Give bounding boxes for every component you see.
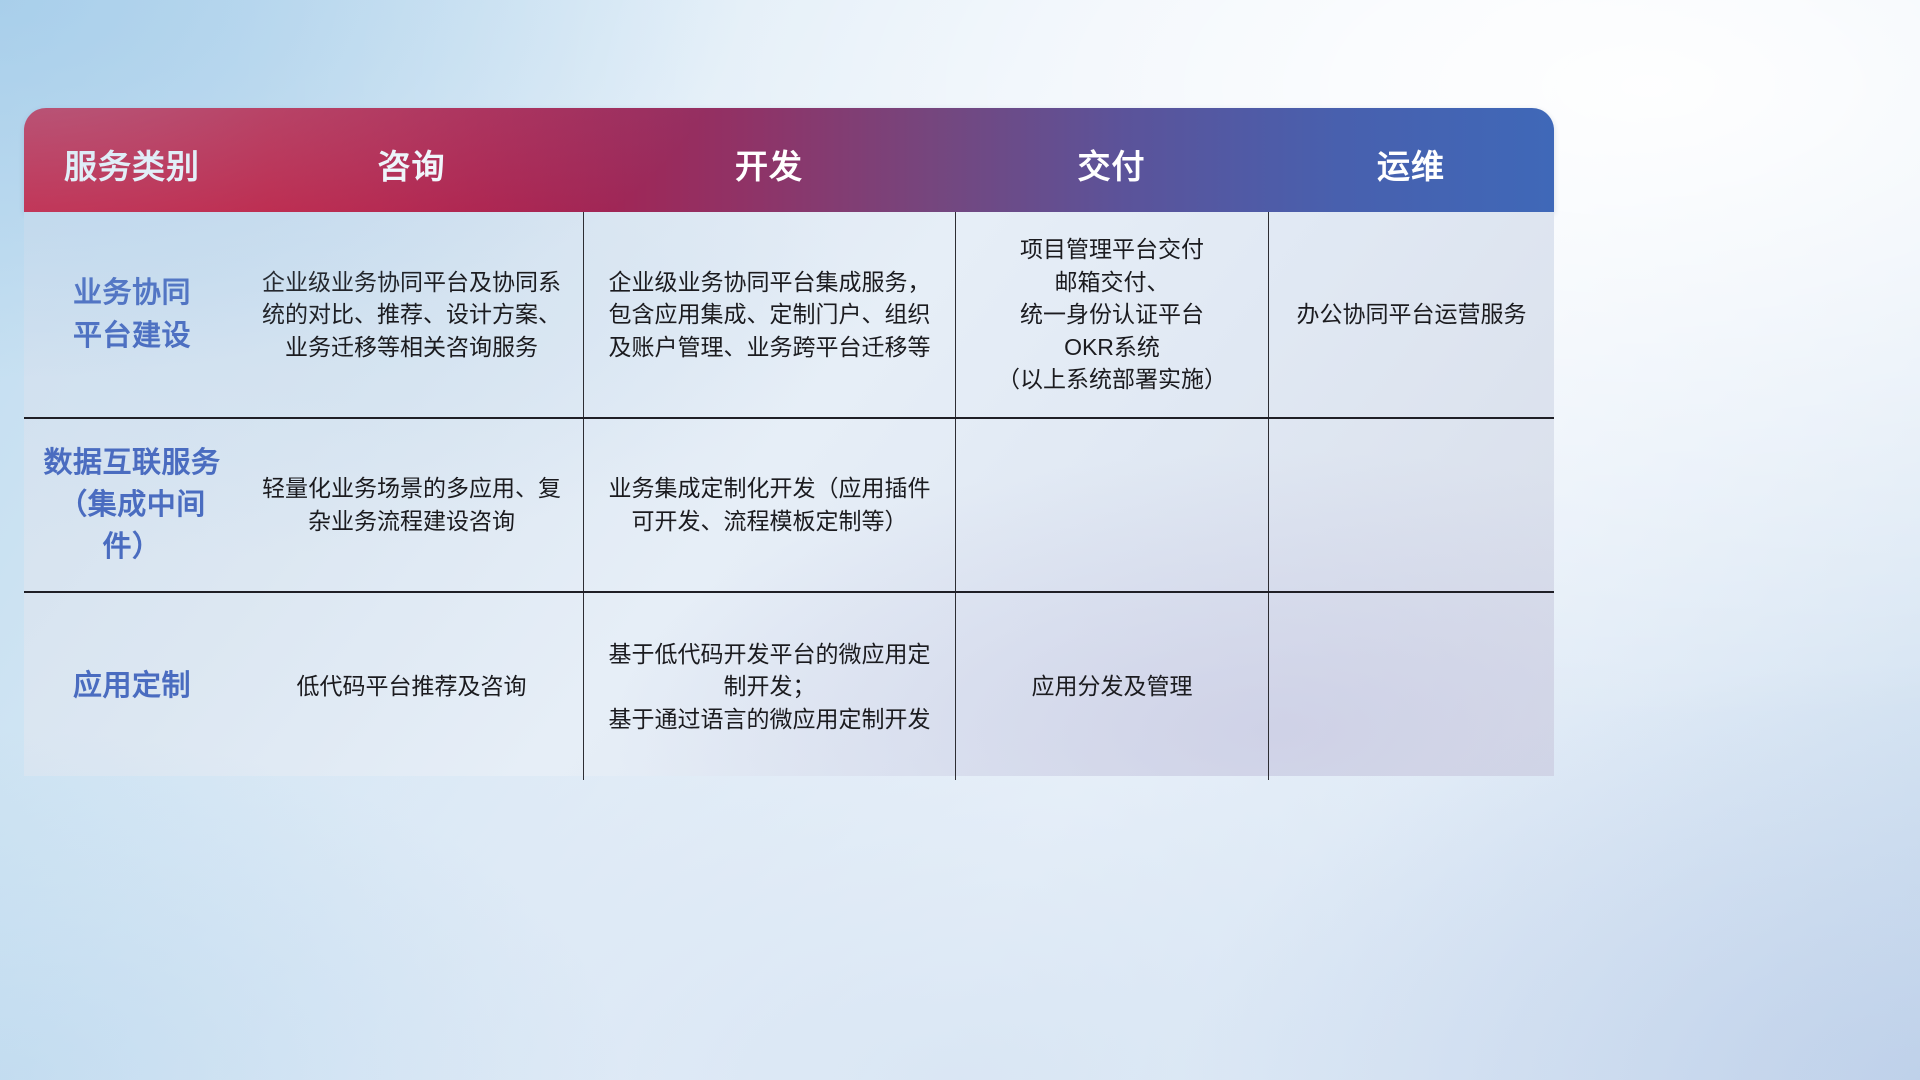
cell-delivery [955, 419, 1268, 591]
column-header-development: 开发 [583, 108, 955, 212]
cell-delivery-text: 应用分发及管理 [1032, 670, 1193, 703]
cell-category: 应用定制 [24, 593, 240, 780]
slide-canvas: 服务类别 咨询 开发 交付 运维 业务协同 平台建设 企业级业务协同平台及协同系… [0, 0, 1920, 1080]
cell-development: 业务集成定制化开发（应用插件 可开发、流程模板定制等） [583, 419, 955, 591]
cell-delivery: 项目管理平台交付 邮箱交付、 统一身份认证平台 OKR系统 （以上系统部署实施） [955, 212, 1268, 417]
cell-consulting: 低代码平台推荐及咨询 [240, 593, 583, 780]
column-header-consulting: 咨询 [240, 108, 583, 212]
cell-operations-text: 办公协同平台运营服务 [1297, 298, 1527, 331]
cell-category-text: 数据互联服务 （集成中间件） [36, 442, 228, 568]
cell-development-text: 业务集成定制化开发（应用插件 可开发、流程模板定制等） [609, 472, 931, 537]
cell-development-text: 企业级业务协同平台集成服务， 包含应用集成、定制门户、组织 及账户管理、业务跨平… [609, 266, 931, 364]
table-row: 应用定制 低代码平台推荐及咨询 基于低代码开发平台的微应用定 制开发； 基于通过… [24, 591, 1554, 780]
cell-consulting: 企业级业务协同平台及协同系 统的对比、推荐、设计方案、 业务迁移等相关咨询服务 [240, 212, 583, 417]
table-header-row: 服务类别 咨询 开发 交付 运维 [24, 108, 1554, 212]
cell-category: 业务协同 平台建设 [24, 212, 240, 417]
table-body: 业务协同 平台建设 企业级业务协同平台及协同系 统的对比、推荐、设计方案、 业务… [24, 212, 1554, 776]
cell-operations [1268, 419, 1554, 591]
cell-delivery: 应用分发及管理 [955, 593, 1268, 780]
cell-consulting: 轻量化业务场景的多应用、复 杂业务流程建设咨询 [240, 419, 583, 591]
cell-category: 数据互联服务 （集成中间件） [24, 419, 240, 591]
column-header-operations: 运维 [1268, 108, 1554, 212]
cell-development: 基于低代码开发平台的微应用定 制开发； 基于通过语言的微应用定制开发 [583, 593, 955, 780]
cell-operations: 办公协同平台运营服务 [1268, 212, 1554, 417]
cell-development: 企业级业务协同平台集成服务， 包含应用集成、定制门户、组织 及账户管理、业务跨平… [583, 212, 955, 417]
cell-delivery-text: 项目管理平台交付 邮箱交付、 统一身份认证平台 OKR系统 （以上系统部署实施） [997, 233, 1227, 396]
table-row: 数据互联服务 （集成中间件） 轻量化业务场景的多应用、复 杂业务流程建设咨询 业… [24, 417, 1554, 591]
cell-consulting-text: 企业级业务协同平台及协同系 统的对比、推荐、设计方案、 业务迁移等相关咨询服务 [262, 266, 561, 364]
cell-development-text: 基于低代码开发平台的微应用定 制开发； 基于通过语言的微应用定制开发 [609, 638, 931, 736]
cell-category-text: 应用定制 [73, 665, 191, 707]
service-matrix-table: 服务类别 咨询 开发 交付 运维 业务协同 平台建设 企业级业务协同平台及协同系… [24, 108, 1554, 776]
table-row: 业务协同 平台建设 企业级业务协同平台及协同系 统的对比、推荐、设计方案、 业务… [24, 212, 1554, 417]
cell-consulting-text: 轻量化业务场景的多应用、复 杂业务流程建设咨询 [262, 472, 561, 537]
cell-category-text: 业务协同 平台建设 [73, 272, 191, 356]
column-header-delivery: 交付 [955, 108, 1268, 212]
column-header-service-category: 服务类别 [24, 108, 240, 212]
cell-consulting-text: 低代码平台推荐及咨询 [297, 670, 527, 703]
cell-operations [1268, 593, 1554, 780]
